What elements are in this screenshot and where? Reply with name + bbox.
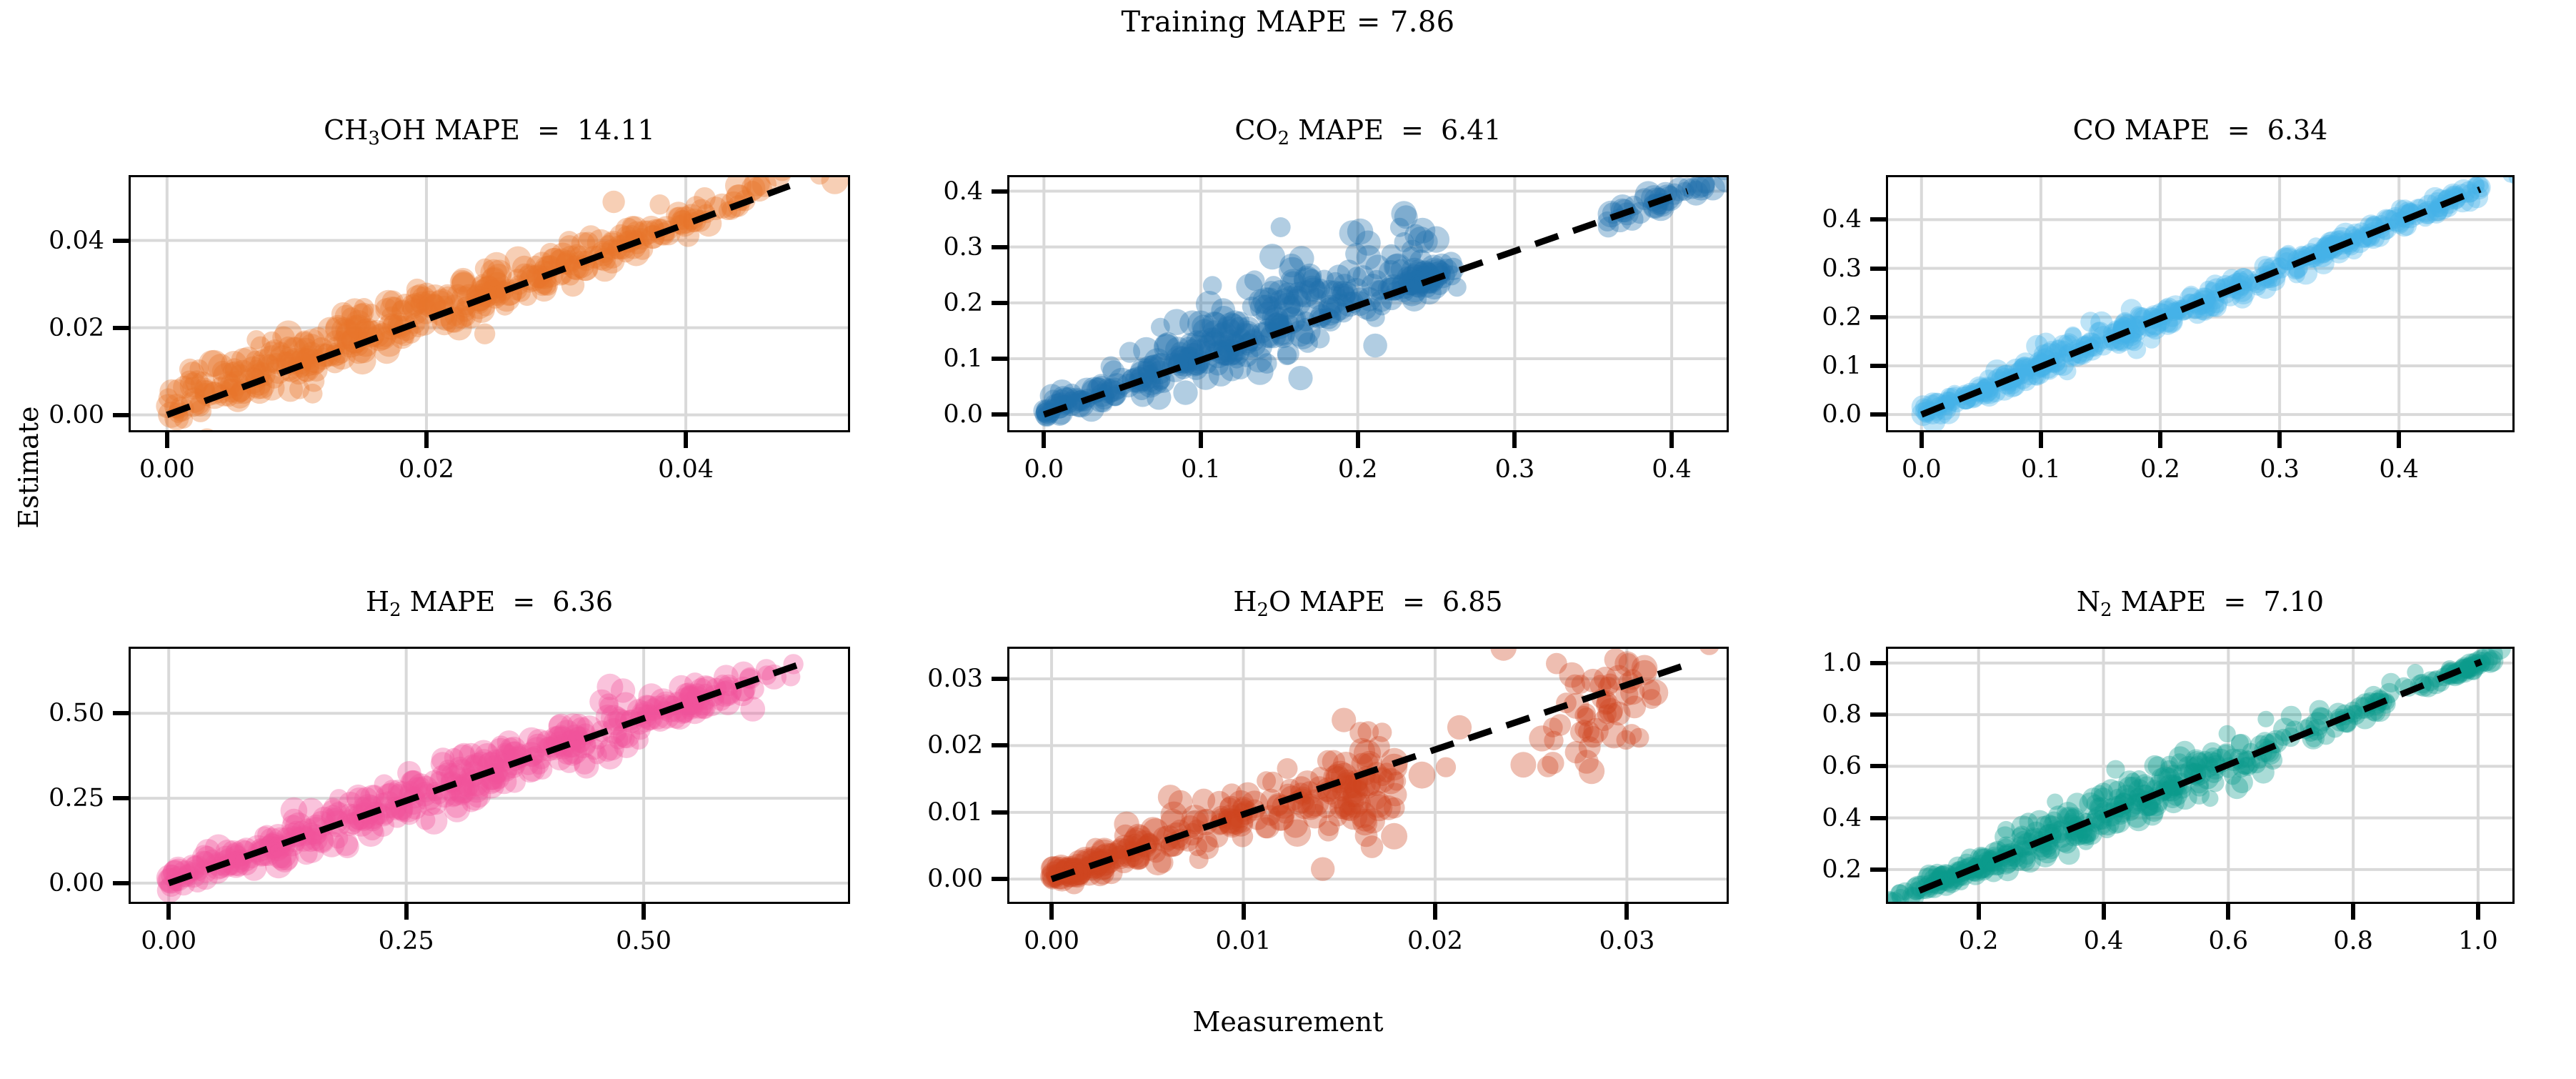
scatter-points-h2o (1040, 649, 1719, 895)
ytick-label-h2-1: 0.25 (0, 784, 104, 812)
ytick-mark-co (1870, 315, 1886, 319)
xtick-mark-n2 (2351, 904, 2355, 920)
xtick-mark-co (2158, 432, 2162, 448)
xtick-label-co-2: 0.2 (2140, 455, 2180, 484)
ytick-label-co2-2: 0.2 (779, 289, 983, 317)
ytick-label-n2-1: 0.4 (1657, 804, 1862, 832)
xtick-label-co-1: 0.1 (2021, 455, 2061, 484)
xtick-mark-n2 (1977, 904, 1981, 920)
xtick-mark-h2 (404, 904, 409, 920)
xtick-label-co2-2: 0.2 (1338, 455, 1378, 484)
ytick-mark-ch3oh (113, 413, 129, 417)
xtick-mark-h2o (1624, 904, 1629, 920)
plot-area-ch3oh (131, 177, 848, 430)
ytick-mark-h2 (113, 881, 129, 885)
ytick-label-n2-0: 0.2 (1657, 855, 1862, 884)
ytick-label-co2-1: 0.1 (779, 344, 983, 373)
xtick-mark-n2 (2226, 904, 2230, 920)
ytick-mark-h2o (992, 877, 1007, 881)
xtick-label-ch3oh-0: 0.00 (139, 455, 195, 484)
ytick-label-n2-4: 1.0 (1657, 649, 1862, 677)
ytick-mark-h2o (992, 810, 1007, 815)
ytick-label-ch3oh-0: 0.00 (0, 401, 104, 429)
ytick-label-co-3: 0.3 (1657, 254, 1862, 283)
xtick-label-h2o-3: 0.03 (1599, 927, 1654, 955)
ytick-label-co-1: 0.1 (1657, 352, 1862, 380)
ytick-mark-n2 (1870, 867, 1886, 872)
panel-title-ch3oh: CH3OH MAPE = 14.11 (129, 114, 850, 149)
panel-title-h2: H2 MAPE = 6.36 (129, 586, 850, 621)
identity-line-ch3oh (167, 186, 789, 414)
figure-suptitle: Training MAPE = 7.86 (0, 6, 2576, 39)
xtick-mark-h2 (641, 904, 646, 920)
plot-area-co2 (1009, 177, 1727, 430)
xtick-mark-ch3oh (165, 432, 169, 448)
xtick-mark-co (2277, 432, 2282, 448)
xtick-mark-h2o (1049, 904, 1054, 920)
ytick-mark-n2 (1870, 661, 1886, 665)
axes-n2 (1886, 647, 2515, 904)
xtick-label-n2-2: 0.6 (2208, 927, 2248, 955)
xtick-label-ch3oh-2: 0.04 (658, 455, 714, 484)
panel-title-co2: CO2 MAPE = 6.41 (1007, 114, 1729, 149)
ytick-label-co-4: 0.4 (1657, 205, 1862, 234)
ytick-mark-co2 (992, 357, 1007, 361)
xtick-mark-co2 (1669, 432, 1674, 448)
identity-line-h2 (169, 661, 810, 883)
xtick-label-h2o-2: 0.02 (1407, 927, 1463, 955)
xtick-label-h2-0: 0.00 (141, 927, 196, 955)
xtick-label-ch3oh-1: 0.02 (399, 455, 454, 484)
xtick-label-h2o-1: 0.01 (1216, 927, 1272, 955)
ytick-mark-h2o (992, 743, 1007, 747)
xtick-mark-co (2397, 432, 2401, 448)
figure-xlabel: Measurement (0, 1006, 2576, 1038)
axes-co2 (1007, 175, 1729, 432)
xtick-label-co-3: 0.3 (2260, 455, 2300, 484)
xtick-mark-h2o (1433, 904, 1437, 920)
scatter-points-ch3oh (156, 177, 848, 430)
ytick-mark-co (1870, 364, 1886, 368)
xtick-label-h2-1: 0.25 (379, 927, 434, 955)
xtick-mark-ch3oh (424, 432, 429, 448)
ytick-mark-co (1870, 217, 1886, 222)
ytick-mark-n2 (1870, 712, 1886, 717)
xtick-mark-h2o (1242, 904, 1246, 920)
ytick-label-h2-2: 0.50 (0, 699, 104, 727)
ytick-label-n2-3: 0.8 (1657, 700, 1862, 729)
ytick-label-h2o-2: 0.02 (779, 731, 983, 760)
figure-ylabel: Estimate (13, 324, 44, 610)
ytick-mark-co (1870, 267, 1886, 271)
xtick-mark-co (1919, 432, 1924, 448)
xtick-mark-n2 (2102, 904, 2106, 920)
ytick-label-co-0: 0.0 (1657, 400, 1862, 429)
xtick-label-n2-4: 1.0 (2458, 927, 2498, 955)
plot-area-h2 (131, 649, 848, 902)
ytick-label-h2o-3: 0.03 (779, 665, 983, 693)
xtick-label-h2o-0: 0.00 (1024, 927, 1079, 955)
xtick-label-co2-1: 0.1 (1181, 455, 1221, 484)
ytick-mark-co2 (992, 412, 1007, 417)
ytick-mark-h2 (113, 711, 129, 715)
xtick-label-co-0: 0.0 (1902, 455, 1942, 484)
plot-area-co (1888, 177, 2512, 430)
ytick-label-co-2: 0.2 (1657, 303, 1862, 332)
ytick-label-h2-0: 0.00 (0, 869, 104, 897)
xtick-label-n2-0: 0.2 (1959, 927, 1999, 955)
xtick-mark-co2 (1356, 432, 1360, 448)
ytick-mark-n2 (1870, 816, 1886, 820)
ytick-mark-ch3oh (113, 239, 129, 243)
ytick-mark-co2 (992, 245, 1007, 249)
xtick-label-co2-3: 0.3 (1495, 455, 1535, 484)
xtick-label-n2-3: 0.8 (2333, 927, 2373, 955)
ytick-mark-co (1870, 412, 1886, 417)
ytick-label-n2-2: 0.6 (1657, 752, 1862, 780)
ytick-mark-h2o (992, 677, 1007, 681)
xtick-mark-co2 (1512, 432, 1517, 448)
ytick-label-co2-3: 0.3 (779, 233, 983, 262)
xtick-label-h2-2: 0.50 (616, 927, 672, 955)
xtick-label-n2-1: 0.4 (2084, 927, 2124, 955)
plot-area-h2o (1009, 649, 1727, 902)
ytick-mark-n2 (1870, 764, 1886, 768)
ytick-mark-co2 (992, 301, 1007, 305)
axes-ch3oh (129, 175, 850, 432)
xtick-mark-ch3oh (684, 432, 688, 448)
xtick-label-co2-0: 0.0 (1024, 455, 1064, 484)
ytick-label-h2o-0: 0.00 (779, 865, 983, 893)
xtick-mark-h2 (166, 904, 171, 920)
xtick-mark-co2 (1199, 432, 1203, 448)
ytick-mark-co2 (992, 189, 1007, 194)
axes-co (1886, 175, 2515, 432)
ytick-label-ch3oh-1: 0.02 (0, 314, 104, 342)
axes-h2 (129, 647, 850, 904)
panel-title-n2: N2 MAPE = 7.10 (1886, 586, 2515, 621)
xtick-mark-co (2039, 432, 2043, 448)
xtick-label-co2-4: 0.4 (1652, 455, 1692, 484)
axes-h2o (1007, 647, 1729, 904)
ytick-mark-h2 (113, 796, 129, 800)
panel-title-co: CO MAPE = 6.34 (1886, 114, 2515, 146)
xtick-mark-co2 (1042, 432, 1046, 448)
figure-canvas: Training MAPE = 7.86 Estimate Measuremen… (0, 0, 2576, 1079)
ytick-label-ch3oh-2: 0.04 (0, 227, 104, 255)
xtick-mark-n2 (2476, 904, 2480, 920)
xtick-label-co-4: 0.4 (2379, 455, 2419, 484)
ytick-label-co2-0: 0.0 (779, 400, 983, 429)
ytick-label-h2o-1: 0.01 (779, 798, 983, 827)
panel-title-h2o: H2O MAPE = 6.85 (1007, 586, 1729, 621)
ytick-label-co2-4: 0.4 (779, 177, 983, 206)
ytick-mark-ch3oh (113, 326, 129, 330)
plot-area-n2 (1888, 649, 2512, 902)
